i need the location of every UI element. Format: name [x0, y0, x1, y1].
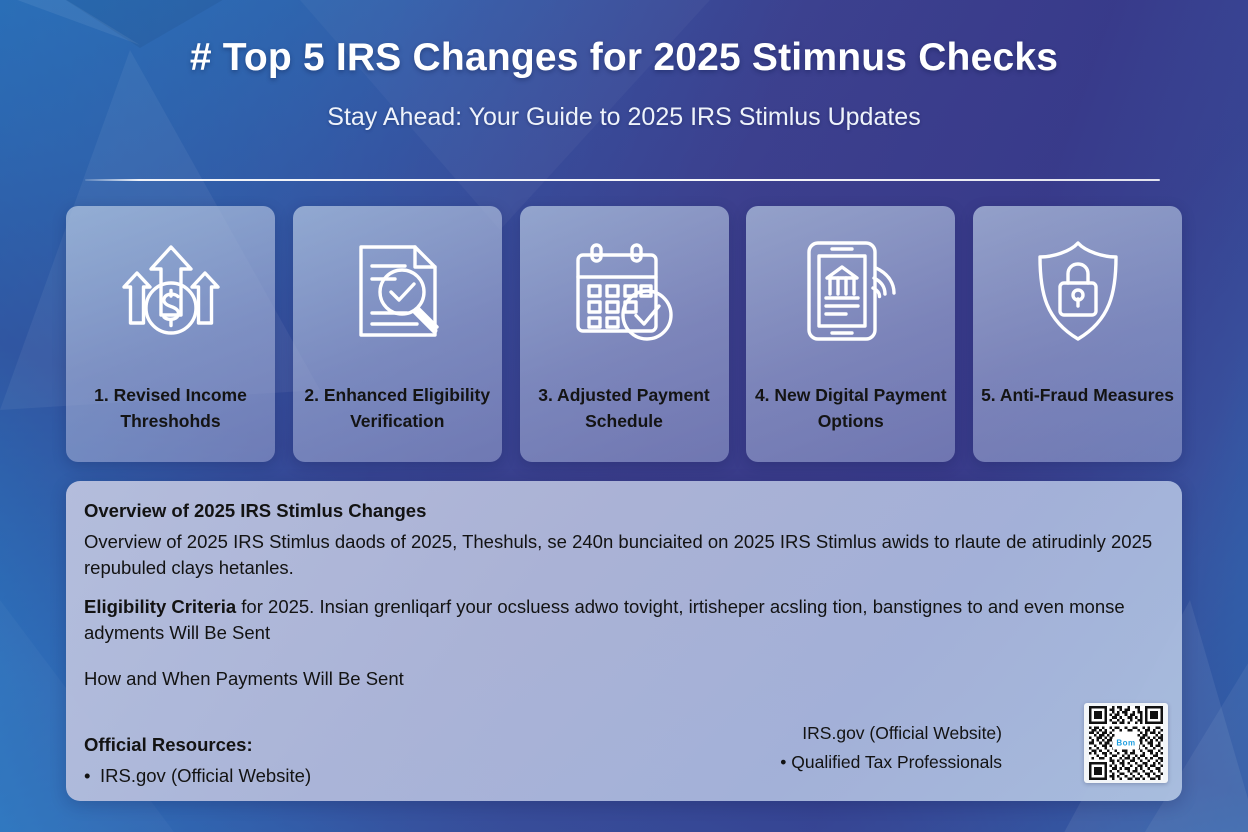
infographic-poster: # Top 5 IRS Changes for 2025 Stimnus Che… [0, 0, 1248, 832]
card-revised-income-thresholds[interactable]: 1. Revised Income Threshohds [66, 206, 275, 462]
overview-heading: Overview of 2025 IRS Stimlus Changes [84, 500, 426, 522]
card-label: 4. New Digital Payment Options [754, 382, 947, 434]
card-adjusted-payment-schedule[interactable]: 3. Adjusted Payment Schedule [520, 206, 729, 462]
resources-secondary-list: IRS.gov (Official Website) • Qualified T… [780, 719, 1002, 777]
document-magnifier-check-icon [345, 232, 449, 350]
card-label: 2. Enhanced Eligibility Verification [301, 382, 494, 434]
qr-code[interactable]: Bom [1084, 703, 1168, 783]
card-enhanced-eligibility-verification[interactable]: 2. Enhanced Eligibility Verification [293, 206, 502, 462]
eligibility-body: for 2025. Insian grenliqarf your ocslues… [84, 596, 1125, 643]
how-and-when-line: How and When Payments Will Be Sent [84, 666, 404, 692]
eligibility-lead: Eligibility Criteria [84, 596, 236, 617]
header-divider [85, 179, 1160, 181]
cards-row: 1. Revised Income Threshohds 2. Enhanced [66, 206, 1182, 462]
overview-body: Overview of 2025 IRS Stimlus daods of 20… [84, 529, 1164, 581]
calendar-check-icon [570, 232, 678, 350]
mobile-bank-nfc-icon [801, 232, 901, 350]
resources-heading: Official Resources: [84, 734, 253, 756]
card-new-digital-payment-options[interactable]: 4. New Digital Payment Options [746, 206, 955, 462]
list-item[interactable]: IRS.gov (Official Website) [100, 765, 311, 786]
page-subtitle: Stay Ahead: Your Guide to 2025 IRS Stiml… [0, 103, 1248, 132]
card-anti-fraud-measures[interactable]: 5. Anti-Fraud Measures [973, 206, 1182, 462]
bullet-icon: • [84, 763, 100, 789]
page-title: # Top 5 IRS Changes for 2025 Stimnus Che… [0, 36, 1248, 80]
resources-list: •IRS.gov (Official Website) [84, 763, 311, 789]
list-item[interactable]: • Qualified Tax Professionals [780, 748, 1002, 777]
card-label: 5. Anti-Fraud Measures [981, 382, 1174, 408]
card-label: 1. Revised Income Threshohds [74, 382, 267, 434]
list-item[interactable]: IRS.gov (Official Website) [780, 719, 1002, 748]
card-label: 3. Adjusted Payment Schedule [528, 382, 721, 434]
shield-lock-icon [1030, 232, 1126, 350]
qr-brand-label: Bom [1112, 737, 1139, 750]
eligibility-paragraph: Eligibility Criteria for 2025. Insian gr… [84, 594, 1164, 646]
overview-panel: Overview of 2025 IRS Stimlus Changes Ove… [66, 481, 1182, 801]
income-growth-dollar-icon [117, 232, 225, 350]
